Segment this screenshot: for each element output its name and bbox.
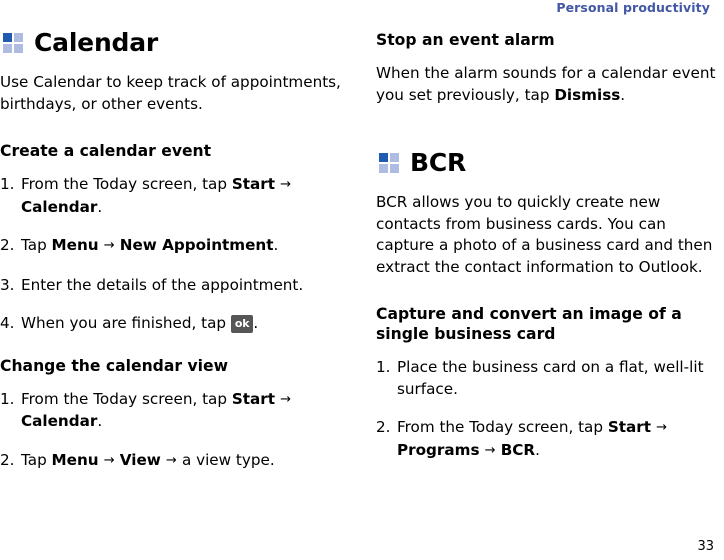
step-text: From the Today screen, tap Start → Calen… xyxy=(21,175,292,216)
subheading-create-calendar-event: Create a calendar event xyxy=(0,141,341,161)
text-run: Place the business card on a flat, well-… xyxy=(397,358,704,398)
step-number: 3. xyxy=(0,275,15,297)
step-number: 1. xyxy=(376,357,391,379)
step-text: Place the business card on a flat, well-… xyxy=(397,358,704,398)
text-run: Tap xyxy=(21,236,52,254)
step-text: When you are finished, tap ok. xyxy=(21,314,258,332)
text-run: Tap xyxy=(21,451,52,469)
text-run: Enter the details of the appointment. xyxy=(21,276,303,294)
stop-event-alarm-paragraph: When the alarm sounds for a calendar eve… xyxy=(376,63,717,106)
numbered-step: 4.When you are finished, tap ok. xyxy=(0,313,341,335)
step-number: 2. xyxy=(0,235,15,257)
emphasis-term: New Appointment xyxy=(120,236,274,254)
step-text: Tap Menu → New Appointment. xyxy=(21,236,278,254)
numbered-step: 1.From the Today screen, tap Start → Cal… xyxy=(0,174,341,218)
emphasis-term: Start xyxy=(232,390,275,408)
step-text: From the Today screen, tap Start → Progr… xyxy=(397,418,668,459)
manual-page: Personal productivity Calendar Use Calen… xyxy=(0,0,724,560)
emphasis-term: Calendar xyxy=(21,198,97,216)
steps-change-calendar-view: 1.From the Today screen, tap Start → Cal… xyxy=(0,389,341,473)
subheading-capture-convert-business-card: Capture and convert an image of a single… xyxy=(376,304,717,344)
emphasis-term: Programs xyxy=(397,441,480,459)
text-run: . xyxy=(97,198,102,216)
emphasis-term: Menu xyxy=(52,236,99,254)
numbered-step: 2.Tap Menu → New Appointment. xyxy=(0,235,341,258)
text-run: When the alarm sounds for a calendar eve… xyxy=(376,64,715,104)
arrow-icon: → xyxy=(480,443,501,458)
arrow-icon: → xyxy=(651,420,668,435)
text-run: From the Today screen, tap xyxy=(397,418,608,436)
text-run: a view type. xyxy=(182,451,275,469)
numbered-step: 3.Enter the details of the appointment. xyxy=(0,275,341,297)
numbered-step: 2.Tap Menu → View → a view type. xyxy=(0,450,341,473)
subheading-stop-event-alarm: Stop an event alarm xyxy=(376,30,717,50)
arrow-icon: → xyxy=(99,238,120,253)
emphasis-term: BCR xyxy=(501,441,535,459)
step-number: 1. xyxy=(0,389,15,411)
section-heading-bcr: BCR xyxy=(379,150,717,175)
subheading-change-calendar-view: Change the calendar view xyxy=(0,356,341,376)
step-number: 2. xyxy=(0,450,15,472)
arrow-icon: → xyxy=(161,453,182,468)
running-header: Personal productivity xyxy=(0,0,724,15)
step-text: Enter the details of the appointment. xyxy=(21,276,303,294)
four-tile-icon xyxy=(3,33,23,53)
right-column: Stop an event alarm When the alarm sound… xyxy=(376,30,717,462)
page-columns: Calendar Use Calendar to keep track of a… xyxy=(0,30,724,525)
numbered-step: 1.Place the business card on a flat, wel… xyxy=(376,357,717,400)
left-column: Calendar Use Calendar to keep track of a… xyxy=(0,30,341,472)
emphasis-term: View xyxy=(120,451,161,469)
step-text: From the Today screen, tap Start → Calen… xyxy=(21,390,292,431)
step-text: Tap Menu → View → a view type. xyxy=(21,451,275,469)
calendar-intro-paragraph: Use Calendar to keep track of appointmen… xyxy=(0,72,341,115)
section-heading-calendar: Calendar xyxy=(3,30,341,55)
emphasis-term: Start xyxy=(232,175,275,193)
text-run: . xyxy=(620,86,625,104)
text-run: When you are finished, tap xyxy=(21,314,231,332)
arrow-icon: → xyxy=(99,453,120,468)
text-run: . xyxy=(535,441,540,459)
emphasis-term: Calendar xyxy=(21,412,97,430)
emphasis-term: Menu xyxy=(52,451,99,469)
text-run: . xyxy=(274,236,279,254)
text-run: From the Today screen, tap xyxy=(21,390,232,408)
steps-create-calendar-event: 1.From the Today screen, tap Start → Cal… xyxy=(0,174,341,335)
step-number: 2. xyxy=(376,417,391,439)
text-run: . xyxy=(253,314,258,332)
step-number: 1. xyxy=(0,174,15,196)
emphasis-term: Dismiss xyxy=(554,86,620,104)
steps-capture-convert-business-card: 1.Place the business card on a flat, wel… xyxy=(376,357,717,462)
page-number: 33 xyxy=(697,539,714,554)
section-title-bcr: BCR xyxy=(410,150,466,175)
numbered-step: 1.From the Today screen, tap Start → Cal… xyxy=(0,389,341,433)
ok-softkey-badge: ok xyxy=(231,315,253,333)
section-title-calendar: Calendar xyxy=(34,30,158,55)
emphasis-term: Start xyxy=(608,418,651,436)
bcr-intro-paragraph: BCR allows you to quickly create new con… xyxy=(376,192,717,278)
text-run: From the Today screen, tap xyxy=(21,175,232,193)
text-run: . xyxy=(97,412,102,430)
four-tile-icon xyxy=(379,153,399,173)
step-number: 4. xyxy=(0,313,15,335)
arrow-icon: → xyxy=(275,392,292,407)
numbered-step: 2.From the Today screen, tap Start → Pro… xyxy=(376,417,717,462)
arrow-icon: → xyxy=(275,177,292,192)
